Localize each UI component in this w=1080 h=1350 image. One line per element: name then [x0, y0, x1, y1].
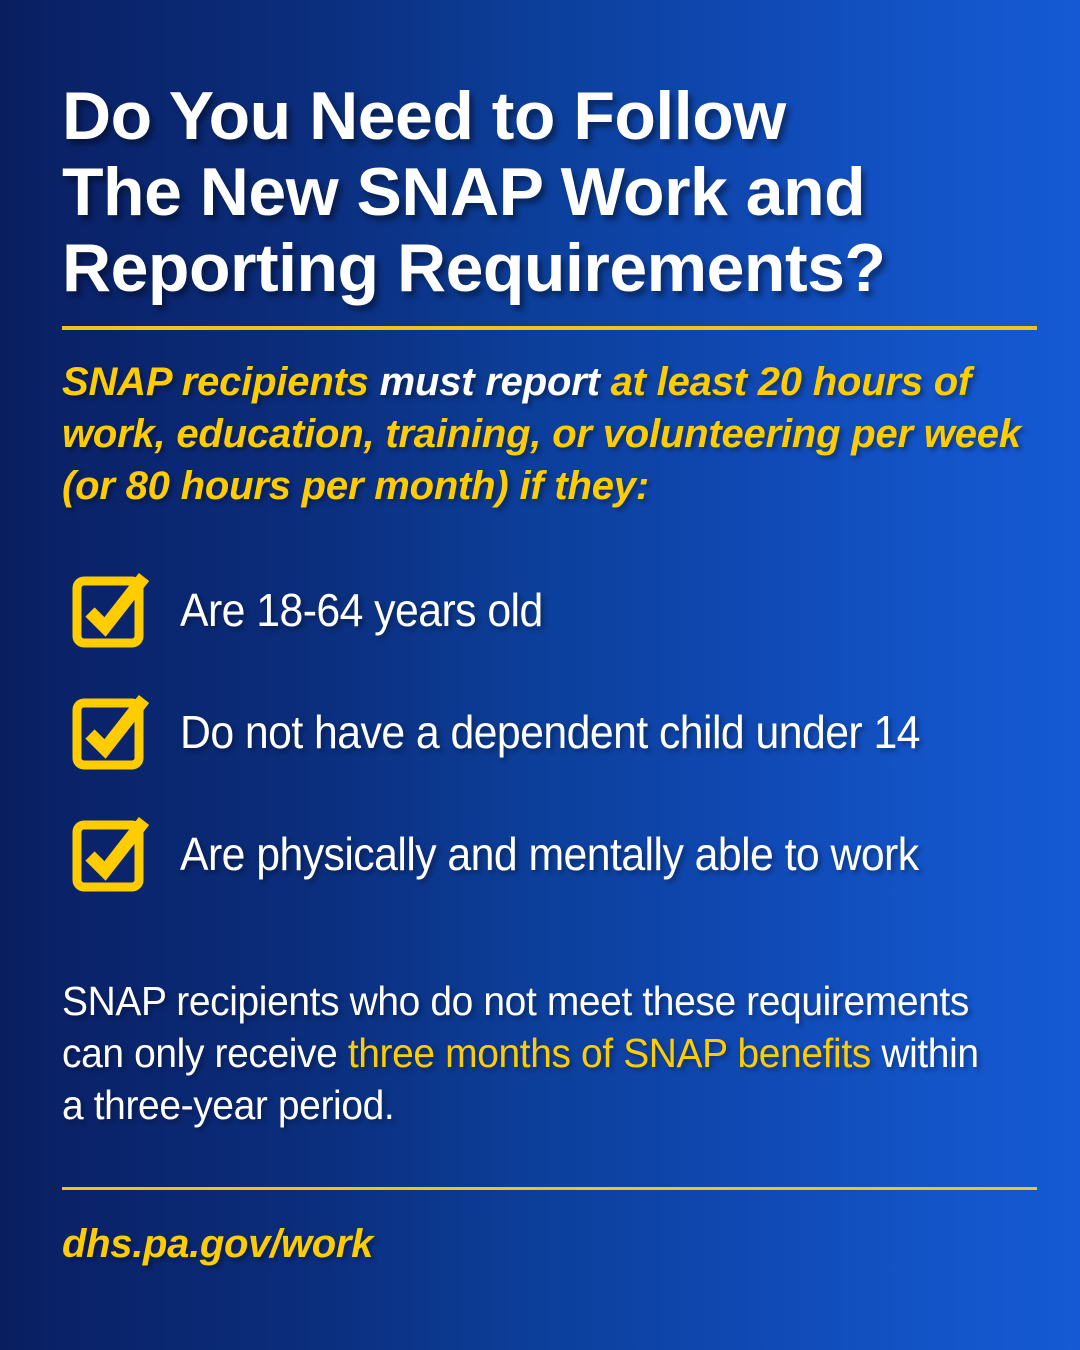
infographic-poster: Do You Need to Follow The New SNAP Work … — [0, 0, 1080, 1350]
title-line-1: Do You Need to Follow — [62, 78, 1052, 154]
body-paragraph: SNAP recipients who do not meet these re… — [62, 975, 993, 1131]
footer-url[interactable]: dhs.pa.gov/work — [62, 1222, 373, 1267]
list-item-label: Do not have a dependent child under 14 — [180, 693, 920, 771]
checkbox-checked-icon — [72, 819, 150, 891]
checkbox-checked-icon — [72, 575, 150, 647]
list-item: Do not have a dependent child under 14 — [62, 693, 1062, 815]
list-item: Are 18-64 years old — [62, 571, 1062, 693]
checkbox-checked-icon — [72, 697, 150, 769]
page-title: Do You Need to Follow The New SNAP Work … — [62, 78, 1052, 306]
divider-top — [62, 326, 1037, 330]
title-line-2: The New SNAP Work and — [62, 154, 1052, 230]
divider-bottom — [62, 1187, 1037, 1190]
list-item: Are physically and mentally able to work — [62, 815, 1062, 937]
requirements-checklist: Are 18-64 years old Do not have a depend… — [62, 571, 1062, 937]
list-item-label: Are physically and mentally able to work — [180, 815, 919, 893]
title-line-3: Reporting Requirements? — [62, 230, 1052, 306]
list-item-label: Are 18-64 years old — [180, 571, 543, 649]
subtitle-part-1: SNAP recipients — [62, 360, 380, 404]
body-highlight: three months of SNAP benefits — [348, 1030, 871, 1076]
subtitle: SNAP recipients must report at least 20 … — [62, 356, 1062, 512]
subtitle-emphasis: must report — [380, 360, 600, 404]
